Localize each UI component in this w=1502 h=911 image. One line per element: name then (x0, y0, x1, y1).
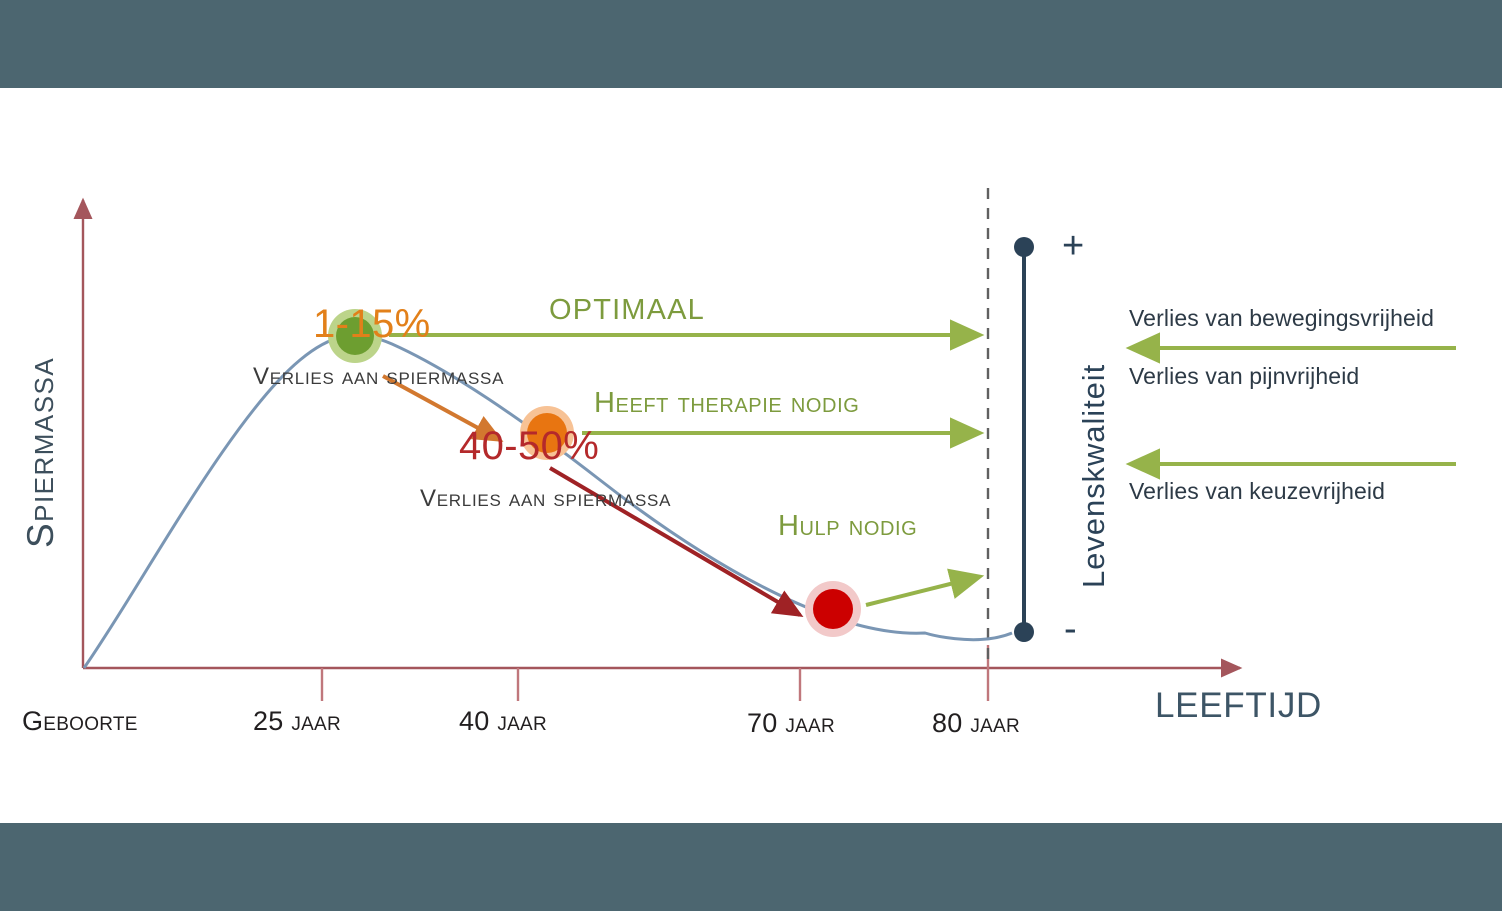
letterbox-top (0, 0, 1502, 88)
loss-caption-1-15: Verlies aan spiermassa (253, 365, 504, 389)
qol-label-bewegingsvrijheid: Verlies van bewegingsvrijheid (1129, 307, 1434, 330)
loss-percent-40-50: 40-50% (459, 426, 599, 466)
band-label-optimaal: OPTIMAAL (549, 296, 705, 325)
letterbox-bottom (0, 823, 1502, 911)
chart-canvas: Spiermassa LEEFTIJD Levenskwaliteit + - … (0, 88, 1502, 823)
qol-label-pijnvrijheid: Verlies van pijnvrijheid (1129, 365, 1359, 388)
x-tick-label-geboorte: Geboorte (22, 708, 138, 735)
x-tick-label-70-jaar: 70 jaar (747, 710, 835, 737)
x-tick-label-80-jaar: 80 jaar (932, 710, 1020, 737)
quality-plus-symbol: + (1062, 227, 1084, 265)
band-label-hulp-nodig: Hulp nodig (778, 512, 917, 541)
x-tick-label-25-jaar: 25 jaar (253, 708, 341, 735)
band-label-heeft-therapie-nodig: Heeft therapie nodig (594, 389, 859, 418)
quality-minus-symbol: - (1064, 610, 1077, 648)
x-tick-label-40-jaar: 40 jaar (459, 708, 547, 735)
loss-percent-1-15: 1-15% (313, 304, 431, 344)
band-arrow-hulp-nodig (866, 577, 978, 605)
marker-help-threshold (805, 581, 861, 637)
quality-of-life-axis-title: Levenskwaliteit (1078, 364, 1109, 588)
quality-of-life-axis (1014, 237, 1034, 642)
y-axis-title: Spiermassa (22, 357, 59, 548)
figure-screenshot: Spiermassa LEEFTIJD Levenskwaliteit + - … (0, 0, 1502, 911)
x-axis-title: LEEFTIJD (1155, 688, 1322, 723)
loss-caption-40-50: Verlies aan spiermassa (420, 487, 671, 511)
qol-label-keuzevrijheid: Verlies van keuzevrijheid (1129, 480, 1385, 503)
